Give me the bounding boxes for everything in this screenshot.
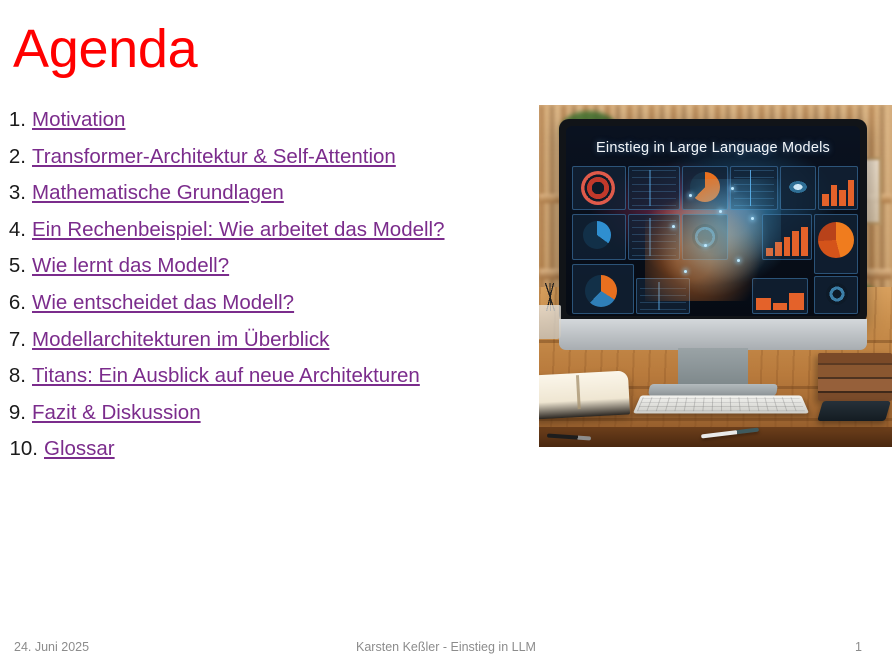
- agenda-item-number: 7.: [0, 328, 32, 352]
- neural-network-graphic: [645, 179, 780, 301]
- neural-node: [672, 225, 675, 228]
- agenda-item-link[interactable]: Modellarchitekturen im Überblick: [32, 328, 329, 352]
- monitor-screen: Einstieg in Large Language Models: [566, 126, 860, 316]
- chart-widget-pie-large: [814, 214, 858, 274]
- page-title: Agenda: [13, 14, 197, 84]
- agenda-item-number: 2.: [0, 145, 32, 169]
- footer-presentation-title: Karsten Keßler - Einstieg in LLM: [0, 640, 892, 654]
- keyboard: [633, 395, 809, 413]
- agenda-item-number: 1.: [0, 108, 32, 132]
- chart-widget-radial: [572, 166, 626, 210]
- agenda-item-number: 10.: [0, 437, 44, 461]
- desk-edge: [539, 427, 892, 447]
- slide-footer: 24. Juni 2025 Karsten Keßler - Einstieg …: [0, 640, 892, 660]
- agenda-item-link[interactable]: Motivation: [32, 108, 125, 132]
- agenda-item-number: 9.: [0, 401, 32, 425]
- monitor-chin: [559, 319, 867, 350]
- agenda-item-link[interactable]: Titans: Ein Ausblick auf neue Architektu…: [32, 364, 420, 388]
- tablet-device: [817, 401, 891, 421]
- slide-image: Einstieg in Large Language Models: [539, 105, 892, 447]
- agenda-item-link[interactable]: Mathematische Grundlagen: [32, 181, 284, 205]
- agenda-item[interactable]: 10.Glossar: [0, 437, 520, 474]
- footer-page-number: 1: [855, 640, 862, 654]
- chart-widget-dial: [814, 276, 858, 314]
- agenda-item[interactable]: 9.Fazit & Diskussion: [0, 401, 520, 438]
- neural-node: [719, 210, 722, 213]
- agenda-item-number: 4.: [0, 218, 32, 242]
- neural-node: [737, 259, 740, 262]
- agenda-item-number: 8.: [0, 364, 32, 388]
- agenda-item[interactable]: 4.Ein Rechenbeispiel: Wie arbeitet das M…: [0, 218, 520, 255]
- agenda-item[interactable]: 7.Modellarchitekturen im Überblick: [0, 328, 520, 365]
- agenda-item[interactable]: 5.Wie lernt das Modell?: [0, 254, 520, 291]
- neural-node: [731, 187, 734, 190]
- book-stack: [818, 353, 892, 401]
- agenda-item-number: 5.: [0, 254, 32, 278]
- chart-widget-bars-bottom: [572, 264, 634, 314]
- agenda-item[interactable]: 6.Wie entscheidet das Modell?: [0, 291, 520, 328]
- agenda-item-link[interactable]: Fazit & Diskussion: [32, 401, 201, 425]
- agenda-list: 1.Motivation2.Transformer-Architektur & …: [0, 108, 520, 474]
- agenda-item[interactable]: 3.Mathematische Grundlagen: [0, 181, 520, 218]
- agenda-item-number: 3.: [0, 181, 32, 205]
- agenda-item[interactable]: 2.Transformer-Architektur & Self-Attenti…: [0, 145, 520, 182]
- pencil-cup: [539, 305, 561, 339]
- monitor-screen-title: Einstieg in Large Language Models: [566, 140, 860, 156]
- open-book: [539, 371, 630, 420]
- agenda-item-link[interactable]: Glossar: [44, 437, 115, 461]
- chart-widget-gauge: [572, 214, 626, 260]
- agenda-item[interactable]: 1.Motivation: [0, 108, 520, 145]
- monitor-base: [648, 384, 778, 396]
- monitor-stand: [678, 348, 748, 388]
- agenda-item-link[interactable]: Wie entscheidet das Modell?: [32, 291, 294, 315]
- neural-node: [704, 244, 707, 247]
- agenda-item-link[interactable]: Ein Rechenbeispiel: Wie arbeitet das Mod…: [32, 218, 445, 242]
- chart-widget-eye: [780, 166, 816, 210]
- agenda-item-number: 6.: [0, 291, 32, 315]
- agenda-item[interactable]: 8.Titans: Ein Ausblick auf neue Architek…: [0, 364, 520, 401]
- agenda-item-link[interactable]: Wie lernt das Modell?: [32, 254, 229, 278]
- agenda-item-link[interactable]: Transformer-Architektur & Self-Attention: [32, 145, 396, 169]
- chart-widget-bars-v: [818, 166, 858, 210]
